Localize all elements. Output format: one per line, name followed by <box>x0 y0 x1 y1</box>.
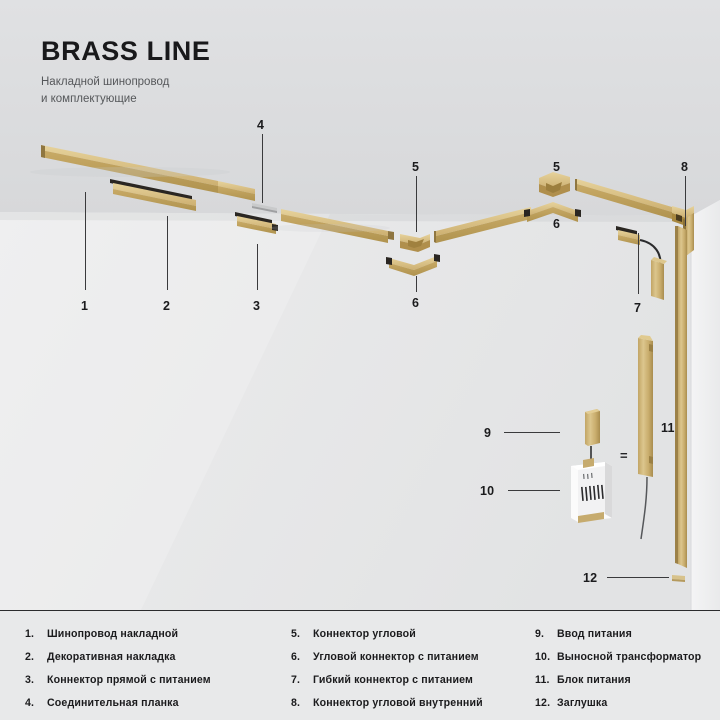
product-diagram-page: BRASS LINE Накладной шинопровод и компле… <box>0 0 720 720</box>
legend-item-12: 12.Заглушка <box>535 698 720 709</box>
end-cap-12 <box>672 575 685 582</box>
page-title: BRASS LINE <box>41 38 211 65</box>
legend-item-number: 5. <box>291 629 313 640</box>
legend-item-label: Гибкий коннектор с питанием <box>313 675 473 686</box>
callout-number-12: 12 <box>583 572 597 585</box>
legend-item-10: 10.Выносной трансформатор <box>535 652 720 663</box>
legend-item-number: 2. <box>25 652 47 663</box>
legend-item-number: 1. <box>25 629 47 640</box>
leader-line-10 <box>508 490 560 491</box>
leader-line-4 <box>262 134 263 203</box>
legend-item-label: Коннектор прямой с питанием <box>47 675 211 686</box>
legend-item-label: Выносной трансформатор <box>557 652 701 663</box>
legend-item-5: 5.Коннектор угловой <box>291 629 521 640</box>
legend-item-4: 4.Соединительная планка <box>25 698 279 709</box>
legend-item-number: 4. <box>25 698 47 709</box>
legend-item-label: Ввод питания <box>557 629 632 640</box>
leader-line-12 <box>607 577 669 578</box>
callout-number-8: 8 <box>681 161 688 174</box>
legend-item-1: 1.Шинопровод накладной <box>25 629 279 640</box>
leader-line-1 <box>85 192 86 290</box>
legend-item-number: 9. <box>535 629 557 640</box>
callout-number-4: 4 <box>257 119 264 132</box>
callout-number-6b: 6 <box>553 218 560 231</box>
vertical-track-wall <box>675 226 687 568</box>
leader-line-3 <box>257 244 258 290</box>
legend-column-2: 5.Коннектор угловой6.Угловой коннектор с… <box>279 629 521 720</box>
page-subtitle: Накладной шинопровод и комплектующие <box>41 74 211 107</box>
legend-item-number: 6. <box>291 652 313 663</box>
remote-transformer-10 <box>571 458 612 523</box>
legend-item-number: 8. <box>291 698 313 709</box>
callout-number-10: 10 <box>480 485 494 498</box>
legend-item-label: Шинопровод накладной <box>47 629 178 640</box>
legend-item-label: Заглушка <box>557 698 607 709</box>
legend-item-number: 12. <box>535 698 557 709</box>
legend-item-7: 7.Гибкий коннектор с питанием <box>291 675 521 686</box>
legend-item-9: 9.Ввод питания <box>535 629 720 640</box>
legend-item-number: 10. <box>535 652 557 663</box>
legend-item-number: 3. <box>25 675 47 686</box>
legend-column-1: 1.Шинопровод накладной2.Декоративная нак… <box>0 629 279 720</box>
legend-item-label: Блок питания <box>557 675 631 686</box>
leader-line-2 <box>167 216 168 290</box>
callout-number-5b: 5 <box>553 161 560 174</box>
callout-number-9: 9 <box>484 427 491 440</box>
leader-line-8 <box>685 176 686 226</box>
legend-item-label: Коннектор угловой <box>313 629 416 640</box>
legend-item-11: 11.Блок питания <box>535 675 720 686</box>
subtitle-line-1: Накладной шинопровод <box>41 74 211 91</box>
equals-sign: = <box>620 448 628 463</box>
legend-item-label: Декоративная накладка <box>47 652 176 663</box>
callout-number-3: 3 <box>253 300 260 313</box>
callout-number-1: 1 <box>81 300 88 313</box>
header-block: BRASS LINE Накладной шинопровод и компле… <box>41 38 211 107</box>
legend-item-label: Соединительная планка <box>47 698 179 709</box>
leader-line-5a <box>416 176 417 232</box>
legend-item-label: Коннектор угловой внутренний <box>313 698 483 709</box>
leader-line-7 <box>638 233 639 294</box>
legend-column-3: 9.Ввод питания10.Выносной трансформатор1… <box>521 629 720 720</box>
legend-list: 1.Шинопровод накладной2.Декоративная нак… <box>0 611 720 720</box>
legend-item-2: 2.Декоративная накладка <box>25 652 279 663</box>
legend-item-3: 3.Коннектор прямой с питанием <box>25 675 279 686</box>
legend-item-6: 6.Угловой коннектор с питанием <box>291 652 521 663</box>
legend-item-number: 11. <box>535 675 557 686</box>
leader-line-9 <box>504 432 560 433</box>
callout-number-6a: 6 <box>412 297 419 310</box>
callout-number-5a: 5 <box>412 161 419 174</box>
callout-number-2: 2 <box>163 300 170 313</box>
legend-item-number: 7. <box>291 675 313 686</box>
leader-line-6a <box>416 276 417 292</box>
legend-item-label: Угловой коннектор с питанием <box>313 652 479 663</box>
callout-number-11: 11 <box>661 422 675 435</box>
subtitle-line-2: и комплектующие <box>41 91 211 108</box>
callout-number-7: 7 <box>634 302 641 315</box>
legend-item-8: 8.Коннектор угловой внутренний <box>291 698 521 709</box>
